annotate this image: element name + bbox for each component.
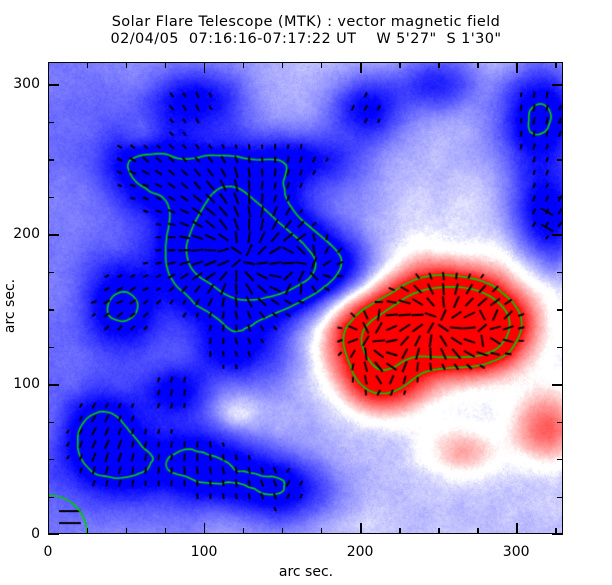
y-major-tick-right — [552, 84, 563, 85]
figure-root: Solar Flare Telescope (MTK) : vector mag… — [0, 0, 612, 585]
x-minor-tick — [477, 528, 478, 534]
plot-frame — [48, 62, 563, 534]
figure-title: Solar Flare Telescope (MTK) : vector mag… — [0, 14, 612, 48]
y-tick-label: 100 — [0, 376, 40, 392]
y-minor-tick — [48, 272, 54, 273]
x-minor-tick — [126, 528, 127, 534]
x-minor-tick-top — [438, 62, 439, 68]
y-major-tick-right — [552, 384, 563, 385]
y-axis-title: arc sec. — [2, 266, 18, 346]
x-major-tick-top — [48, 62, 49, 73]
y-major-tick — [48, 534, 59, 535]
y-tick-label: 300 — [0, 76, 40, 92]
x-minor-tick — [243, 528, 244, 534]
y-major-tick — [48, 84, 59, 85]
x-minor-tick-top — [399, 62, 400, 68]
x-major-tick — [48, 523, 49, 534]
y-minor-tick-right — [557, 347, 563, 348]
y-major-tick — [48, 384, 59, 385]
x-major-tick-top — [360, 62, 361, 73]
x-major-tick — [516, 523, 517, 534]
x-minor-tick — [399, 528, 400, 534]
x-tick-label: 100 — [191, 544, 218, 560]
y-minor-tick-right — [557, 309, 563, 310]
x-minor-tick — [321, 528, 322, 534]
x-major-tick-top — [516, 62, 517, 73]
x-major-tick-top — [204, 62, 205, 73]
y-minor-tick — [48, 309, 54, 310]
x-minor-tick-top — [165, 62, 166, 68]
y-minor-tick — [48, 497, 54, 498]
y-minor-tick-right — [557, 459, 563, 460]
y-minor-tick-right — [557, 197, 563, 198]
y-major-tick-right — [552, 234, 563, 235]
x-minor-tick-top — [87, 62, 88, 68]
title-line-1: Solar Flare Telescope (MTK) : vector mag… — [0, 14, 612, 31]
x-minor-tick-top — [282, 62, 283, 68]
title-line-2: 02/04/05 07:16:16-07:17:22 UT W 5'27" S … — [0, 31, 612, 48]
x-minor-tick-top — [321, 62, 322, 68]
y-minor-tick — [48, 197, 54, 198]
y-minor-tick-right — [557, 422, 563, 423]
y-minor-tick — [48, 459, 54, 460]
x-minor-tick-top — [243, 62, 244, 68]
x-tick-label: 300 — [503, 544, 530, 560]
y-minor-tick — [48, 347, 54, 348]
x-minor-tick — [282, 528, 283, 534]
x-tick-label: 0 — [44, 544, 53, 560]
x-tick-label: 200 — [347, 544, 374, 560]
x-minor-tick-top — [555, 62, 556, 68]
y-major-tick — [48, 234, 59, 235]
x-minor-tick — [165, 528, 166, 534]
y-minor-tick-right — [557, 497, 563, 498]
y-tick-label: 200 — [0, 226, 40, 242]
y-minor-tick-right — [557, 159, 563, 160]
y-major-tick-right — [552, 534, 563, 535]
y-minor-tick-right — [557, 272, 563, 273]
x-major-tick — [204, 523, 205, 534]
x-minor-tick — [87, 528, 88, 534]
y-minor-tick — [48, 422, 54, 423]
x-minor-tick — [438, 528, 439, 534]
x-minor-tick-top — [126, 62, 127, 68]
x-axis-title: arc sec. — [0, 564, 612, 580]
magnetogram-image — [49, 63, 562, 533]
y-minor-tick-right — [557, 122, 563, 123]
y-minor-tick — [48, 159, 54, 160]
x-minor-tick-top — [477, 62, 478, 68]
x-major-tick — [360, 523, 361, 534]
y-minor-tick — [48, 122, 54, 123]
y-tick-label: 0 — [0, 526, 40, 542]
